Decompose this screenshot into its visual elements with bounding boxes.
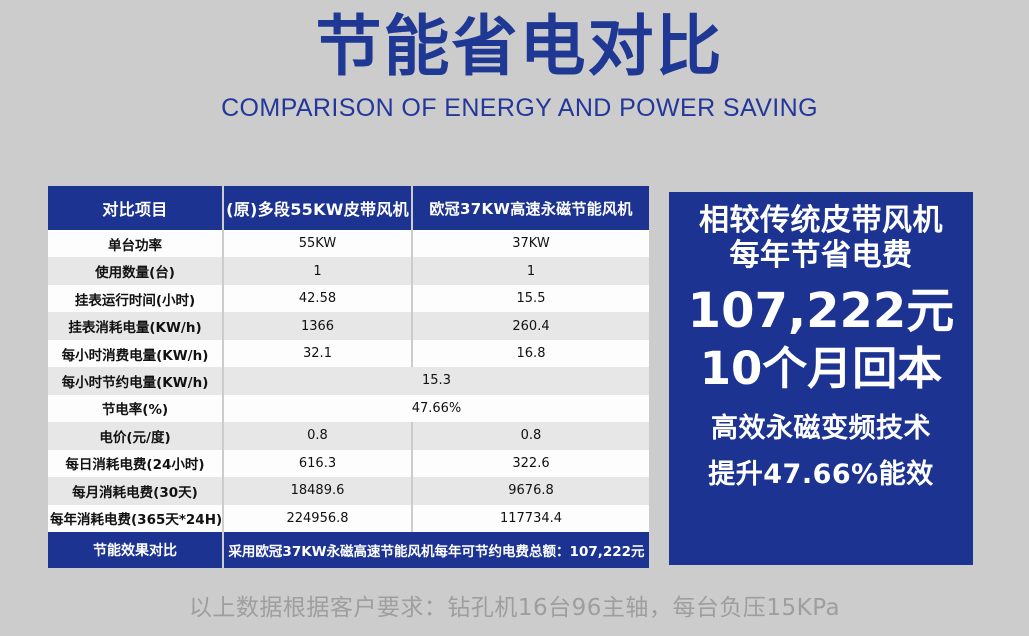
row-value-old: 1 xyxy=(224,257,413,284)
poster-root: 节能省电对比 COMPARISON OF ENERGY AND POWER SA… xyxy=(0,0,1029,636)
savings-highlight-panel: 相较传统皮带风机 每年节省电费 107,222元 10个月回本 高效永磁变频技术… xyxy=(669,192,973,565)
table-row: 每年消耗电费(365天*24H)224956.8117734.4 xyxy=(48,505,649,532)
table-row: 使用数量(台)11 xyxy=(48,257,649,284)
table-row: 节电率(%)47.66% xyxy=(48,395,649,422)
table-row: 每月消耗电费(30天)18489.69676.8 xyxy=(48,477,649,504)
row-value-new: 322.6 xyxy=(413,450,649,477)
row-value-new: 117734.4 xyxy=(413,505,649,532)
row-label: 节电率(%) xyxy=(48,395,224,422)
row-value-old: 616.3 xyxy=(224,450,413,477)
table-header-row: 对比项目 (原)多段55KW皮带风机 欧冠37KW高速永磁节能风机 xyxy=(48,186,649,230)
row-value-old: 18489.6 xyxy=(224,477,413,504)
row-value-old: 32.1 xyxy=(224,340,413,367)
row-value-old: 55KW xyxy=(224,230,413,257)
row-label: 每小时节约电量(KW/h) xyxy=(48,367,224,394)
table-row: 每小时节约电量(KW/h)15.3 xyxy=(48,367,649,394)
row-value-new: 260.4 xyxy=(413,312,649,339)
row-value-merged: 47.66% xyxy=(224,395,649,422)
page-subtitle: COMPARISON OF ENERGY AND POWER SAVING xyxy=(0,93,1029,123)
page-title: 节能省电对比 xyxy=(0,6,1029,89)
footer-label: 节能效果对比 xyxy=(48,532,224,568)
row-label: 每年消耗电费(365天*24H) xyxy=(48,505,224,532)
column-header-item: 对比项目 xyxy=(48,186,224,230)
table-row: 每小时消费电量(KW/h)32.116.8 xyxy=(48,340,649,367)
column-header-new: 欧冠37KW高速永磁节能风机 xyxy=(413,186,649,230)
table-row: 挂表运行时间(小时)42.5815.5 xyxy=(48,285,649,312)
row-value-new: 0.8 xyxy=(413,422,649,449)
row-label: 电价(元/度) xyxy=(48,422,224,449)
row-label: 挂表消耗电量(KW/h) xyxy=(48,312,224,339)
row-label: 使用数量(台) xyxy=(48,257,224,284)
table-footer-row: 节能效果对比 采用欧冠37KW永磁高速节能风机每年可节约电费总额：107,222… xyxy=(48,532,649,568)
comparison-table-container: 对比项目 (原)多段55KW皮带风机 欧冠37KW高速永磁节能风机 单台功率55… xyxy=(48,186,649,568)
table-row: 单台功率55KW37KW xyxy=(48,230,649,257)
row-label: 每小时消费电量(KW/h) xyxy=(48,340,224,367)
panel-headline-line2: 每年节省电费 xyxy=(699,239,943,274)
row-value-new: 9676.8 xyxy=(413,477,649,504)
row-value-old: 42.58 xyxy=(224,285,413,312)
row-value-new: 1 xyxy=(413,257,649,284)
panel-savings-amount: 107,222元 xyxy=(688,284,955,339)
table-body: 单台功率55KW37KW使用数量(台)11挂表运行时间(小时)42.5815.5… xyxy=(48,230,649,532)
row-value-new: 15.5 xyxy=(413,285,649,312)
row-value-old: 0.8 xyxy=(224,422,413,449)
row-label: 每日消耗电费(24小时) xyxy=(48,450,224,477)
row-value-old: 224956.8 xyxy=(224,505,413,532)
panel-headline: 相较传统皮带风机 每年节省电费 xyxy=(699,204,943,274)
comparison-table: 对比项目 (原)多段55KW皮带风机 欧冠37KW高速永磁节能风机 单台功率55… xyxy=(48,186,649,568)
table-row: 电价(元/度)0.80.8 xyxy=(48,422,649,449)
panel-headline-line1: 相较传统皮带风机 xyxy=(699,204,943,239)
column-header-old: (原)多段55KW皮带风机 xyxy=(224,186,413,230)
table-row: 挂表消耗电量(KW/h)1366260.4 xyxy=(48,312,649,339)
table-row: 每日消耗电费(24小时)616.3322.6 xyxy=(48,450,649,477)
row-label: 每月消耗电费(30天) xyxy=(48,477,224,504)
panel-payback-period: 10个月回本 xyxy=(700,343,943,395)
panel-tech-line: 高效永磁变频技术 xyxy=(711,413,931,445)
page-header: 节能省电对比 COMPARISON OF ENERGY AND POWER SA… xyxy=(0,6,1029,123)
row-value-old: 1366 xyxy=(224,312,413,339)
footnote: 以上数据根据客户要求：钻孔机16台96主轴，每台负压15KPa xyxy=(0,588,1029,622)
row-value-merged: 15.3 xyxy=(224,367,649,394)
footer-value: 采用欧冠37KW永磁高速节能风机每年可节约电费总额：107,222元 xyxy=(224,532,649,568)
row-label: 挂表运行时间(小时) xyxy=(48,285,224,312)
row-value-new: 37KW xyxy=(413,230,649,257)
panel-efficiency-line: 提升47.66%能效 xyxy=(708,459,933,491)
row-label: 单台功率 xyxy=(48,230,224,257)
row-value-new: 16.8 xyxy=(413,340,649,367)
